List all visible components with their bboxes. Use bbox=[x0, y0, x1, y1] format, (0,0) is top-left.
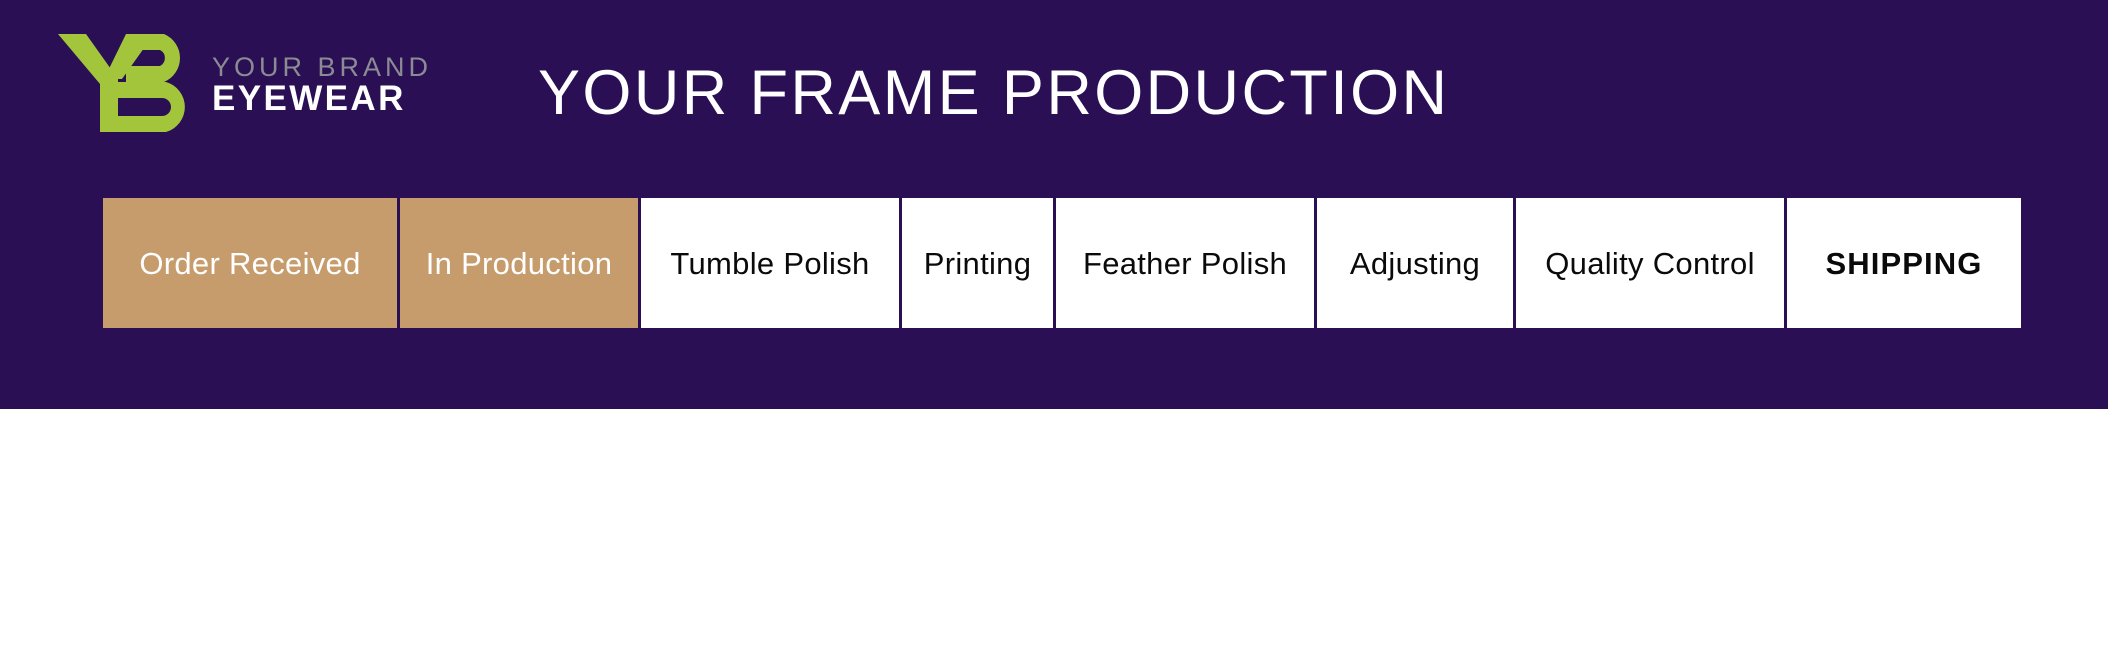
brand-wordmark: YOUR BRAND EYEWEAR bbox=[212, 47, 432, 118]
brand-tagline-bottom: EYEWEAR bbox=[212, 81, 432, 118]
step-label: In Production bbox=[426, 248, 613, 279]
header-band: YOUR BRAND EYEWEAR YOUR FRAME PRODUCTION… bbox=[0, 0, 2108, 409]
step-tumble-polish[interactable]: Tumble Polish bbox=[639, 196, 901, 330]
step-feather-polish[interactable]: Feather Polish bbox=[1054, 196, 1316, 330]
step-label: Adjusting bbox=[1350, 248, 1480, 279]
step-adjusting[interactable]: Adjusting bbox=[1315, 196, 1515, 330]
brand-logo[interactable]: YOUR BRAND EYEWEAR bbox=[56, 30, 432, 135]
step-order-received[interactable]: Order Received bbox=[101, 196, 399, 330]
step-label: SHIPPING bbox=[1826, 248, 1983, 279]
step-shipping[interactable]: SHIPPING bbox=[1785, 196, 2023, 330]
process-icon-row bbox=[0, 409, 2108, 671]
brand-tagline-top: YOUR BRAND bbox=[212, 53, 432, 81]
step-label: Printing bbox=[924, 248, 1032, 279]
step-printing[interactable]: Printing bbox=[900, 196, 1055, 330]
production-status-page: YOUR BRAND EYEWEAR YOUR FRAME PRODUCTION… bbox=[0, 0, 2108, 671]
yb-monogram-icon bbox=[56, 32, 208, 134]
step-in-production[interactable]: In Production bbox=[398, 196, 640, 330]
step-label: Tumble Polish bbox=[670, 248, 869, 279]
step-label: Quality Control bbox=[1545, 248, 1755, 279]
page-title: YOUR FRAME PRODUCTION bbox=[538, 62, 1449, 125]
step-quality-control[interactable]: Quality Control bbox=[1514, 196, 1786, 330]
step-label: Order Received bbox=[139, 248, 360, 279]
step-label: Feather Polish bbox=[1083, 248, 1287, 279]
production-progress-stepbar: Order ReceivedIn ProductionTumble Polish… bbox=[101, 196, 2030, 330]
